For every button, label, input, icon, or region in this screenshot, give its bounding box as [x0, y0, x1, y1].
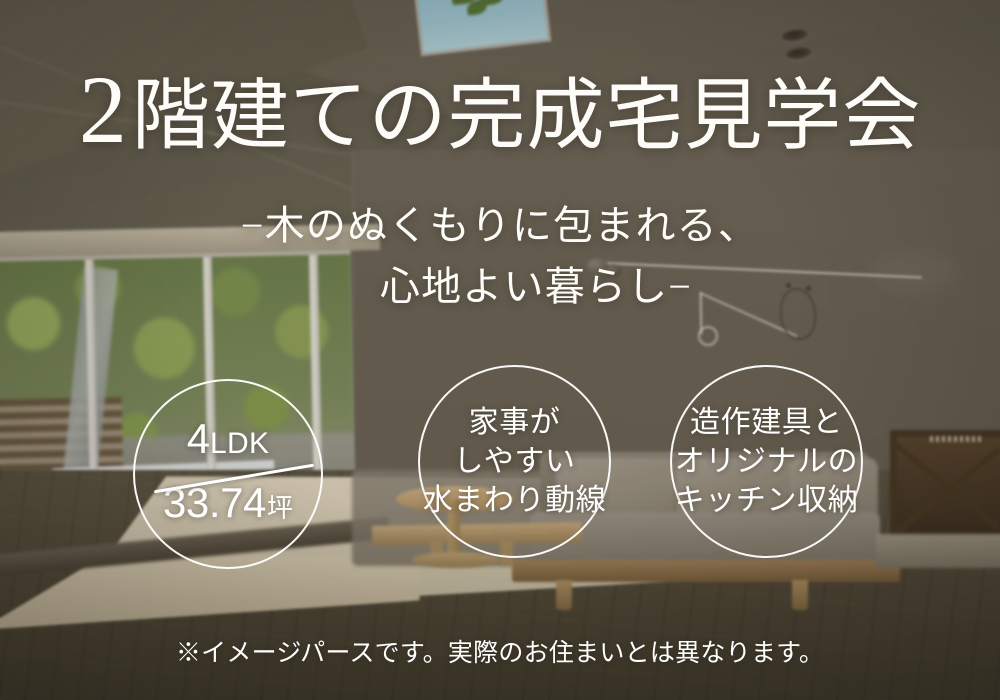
feature-flow-text: 家事が しやすい 水まわり動線 [420, 403, 609, 521]
headline-number: 2 [79, 56, 132, 163]
page-title: 2階建ての完成宅見学会 [0, 62, 1000, 158]
feature-flow-line-1: 家事が [420, 403, 609, 442]
feature-circle-kitchen: 造作建具と オリジナルの キッチン収納 [670, 365, 863, 558]
promo-banner: 2階建ての完成宅見学会 −木のぬくもりに包まれる、 心地よい暮らし− 4 LDK… [0, 0, 1000, 700]
ldk-unit: LDK [210, 429, 269, 459]
feature-flow-line-3: 水まわり動線 [420, 481, 609, 520]
area-numerator: 4 LDK [187, 418, 270, 460]
disclaimer-text: ※イメージパースです。実際のお住まいとは異なります。 [0, 633, 1000, 669]
subtitle: −木のぬくもりに包まれる、 心地よい暮らし− [0, 196, 1000, 318]
text-overlay: 2階建ての完成宅見学会 −木のぬくもりに包まれる、 心地よい暮らし− 4 LDK… [0, 0, 1000, 700]
subtitle-line-1: −木のぬくもりに包まれる、 [241, 203, 759, 248]
headline-rest: 階建ての完成宅見学会 [132, 72, 921, 159]
floor-area-unit: 坪 [266, 495, 293, 521]
feature-circle-flow: 家事が しやすい 水まわり動線 [418, 365, 611, 558]
area-fraction: 4 LDK 33.74 坪 [135, 381, 321, 567]
subtitle-line-2: 心地よい暮らし− [0, 257, 1000, 318]
feature-kitchen-line-1: 造作建具と [672, 403, 861, 442]
feature-circle-area: 4 LDK 33.74 坪 [133, 379, 323, 569]
feature-flow-line-2: しやすい [420, 442, 609, 481]
feature-kitchen-text: 造作建具と オリジナルの キッチン収納 [672, 403, 861, 521]
feature-kitchen-line-3: キッチン収納 [672, 481, 861, 520]
ldk-count: 4 [187, 418, 210, 460]
feature-kitchen-line-2: オリジナルの [672, 442, 861, 481]
